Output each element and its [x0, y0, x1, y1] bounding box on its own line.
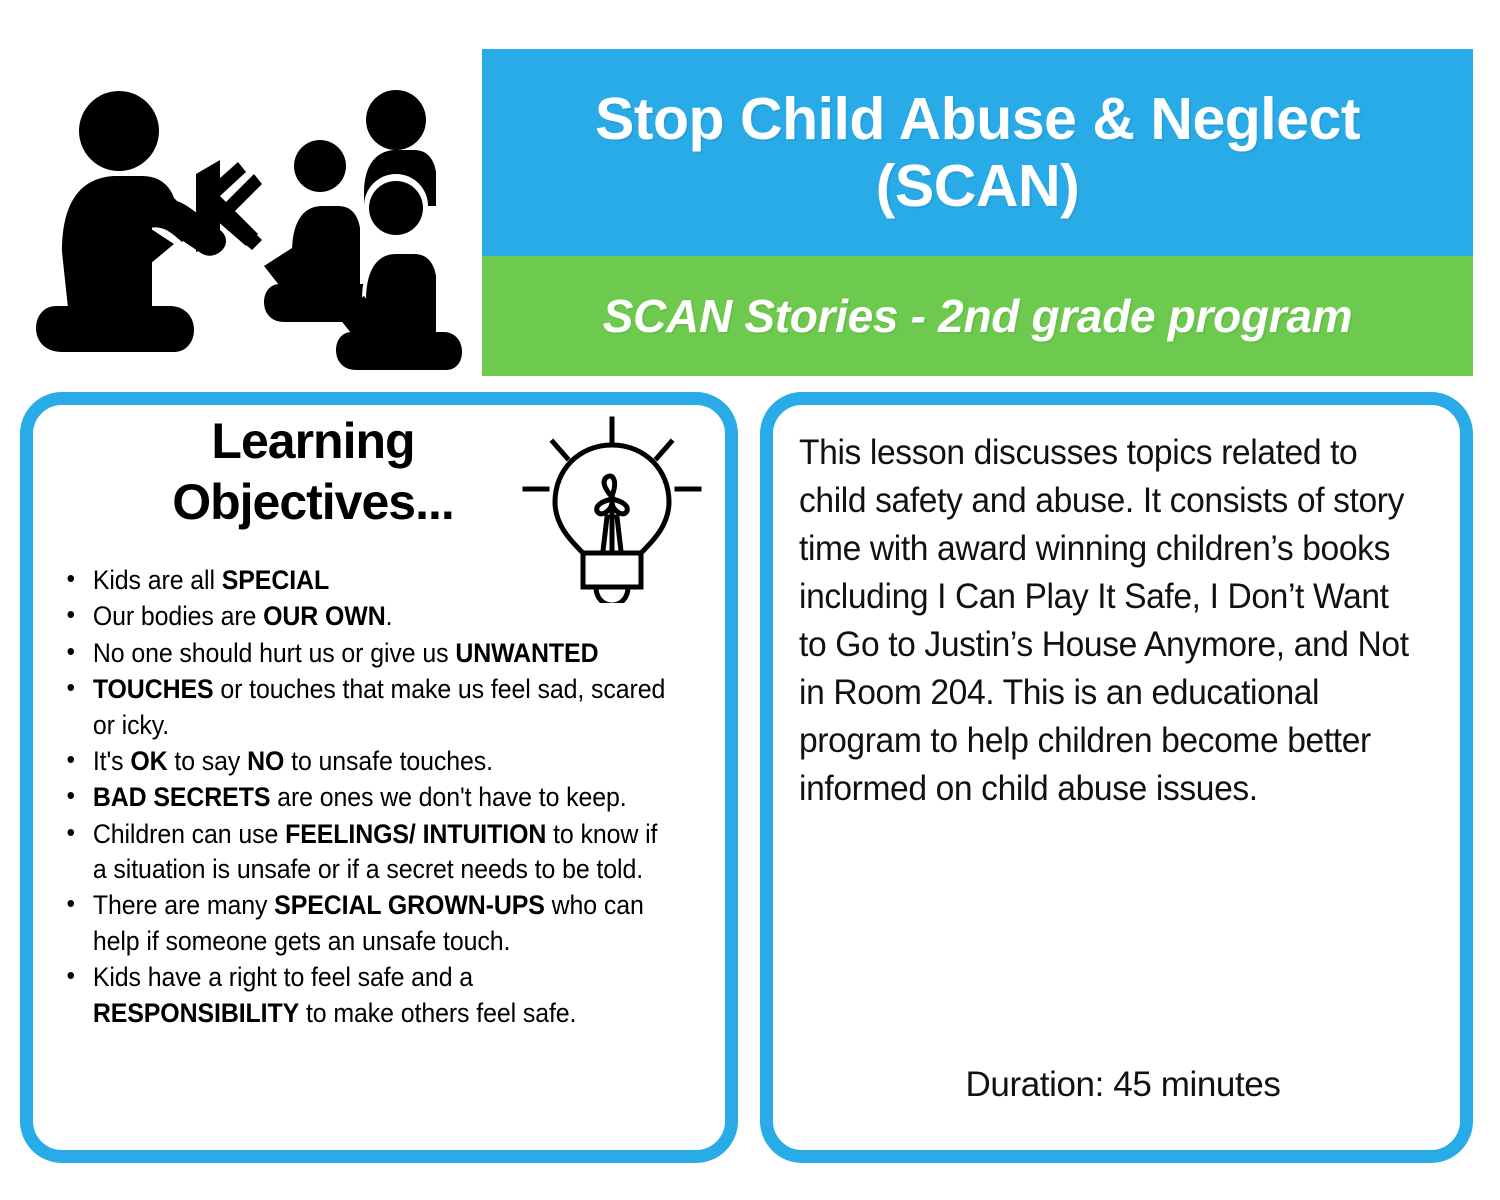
adult-reading-to-children-illustration — [24, 56, 464, 376]
objective-text: Children can use — [93, 819, 285, 849]
header-area: Stop Child Abuse & Neglect(SCAN) SCAN St… — [0, 0, 1500, 392]
objective-text: No one should hurt us or give us — [93, 638, 455, 668]
objectives-list: Kids are all SPECIALOur bodies are OUR O… — [59, 563, 709, 1032]
objective-text: Kids have a right to feel safe and a — [93, 962, 473, 992]
objective-emphasis: FEELINGS/ INTUITION — [285, 819, 546, 849]
objective-emphasis: OK — [130, 746, 167, 776]
objective-emphasis: TOUCHES — [93, 674, 214, 704]
objectives-heading-row: Learning Objectives... — [33, 405, 725, 551]
objective-text: to say — [168, 746, 248, 776]
learning-objectives-card: Learning Objectives... — [20, 392, 738, 1163]
objective-emphasis: SPECIAL — [222, 565, 329, 595]
lesson-duration: Duration: 45 minutes — [799, 1065, 1447, 1105]
objective-item: It's OK to say NO to unsafe touches. — [59, 744, 670, 779]
objective-item: Kids have a right to feel safe and a RES… — [59, 960, 670, 1031]
objective-item: Children can use FEELINGS/ INTUITION to … — [59, 817, 670, 888]
objective-text: It's — [93, 746, 131, 776]
objective-item: Our bodies are OUR OWN. — [59, 599, 670, 634]
lesson-description-text: This lesson discusses topics related to … — [799, 429, 1421, 813]
objective-text: There are many — [93, 890, 274, 920]
objective-item: TOUCHES or touches that make us feel sad… — [59, 672, 670, 743]
objective-text: . — [386, 601, 393, 631]
objective-text: to unsafe touches. — [284, 746, 493, 776]
objective-emphasis: BAD SECRETS — [93, 782, 271, 812]
objective-text: to make others feel safe. — [299, 998, 576, 1028]
subtitle-banner: SCAN Stories - 2nd grade program — [482, 256, 1473, 376]
objective-item: Kids are all SPECIAL — [59, 563, 670, 598]
objective-text: Kids are all — [93, 565, 222, 595]
objective-emphasis: SPECIAL GROWN-UPS — [274, 890, 545, 920]
objective-emphasis: UNWANTED — [455, 638, 598, 668]
objective-emphasis: OUR OWN — [263, 601, 385, 631]
objective-emphasis: NO — [247, 746, 284, 776]
page-title: Stop Child Abuse & Neglect(SCAN) — [581, 86, 1374, 219]
objective-text: Our bodies are — [93, 601, 263, 631]
objective-item: BAD SECRETS are ones we don't have to ke… — [59, 780, 670, 815]
objective-emphasis: RESPONSIBILITY — [93, 998, 299, 1028]
objective-item: No one should hurt us or give us UNWANTE… — [59, 636, 670, 671]
objectives-heading: Learning Objectives... — [133, 411, 493, 533]
title-banner: Stop Child Abuse & Neglect(SCAN) — [482, 49, 1473, 256]
objective-item: There are many SPECIAL GROWN-UPS who can… — [59, 888, 670, 959]
objective-text: are ones we don't have to keep. — [270, 782, 626, 812]
page-subtitle: SCAN Stories - 2nd grade program — [603, 291, 1353, 342]
lesson-description-card: This lesson discusses topics related to … — [760, 392, 1473, 1163]
